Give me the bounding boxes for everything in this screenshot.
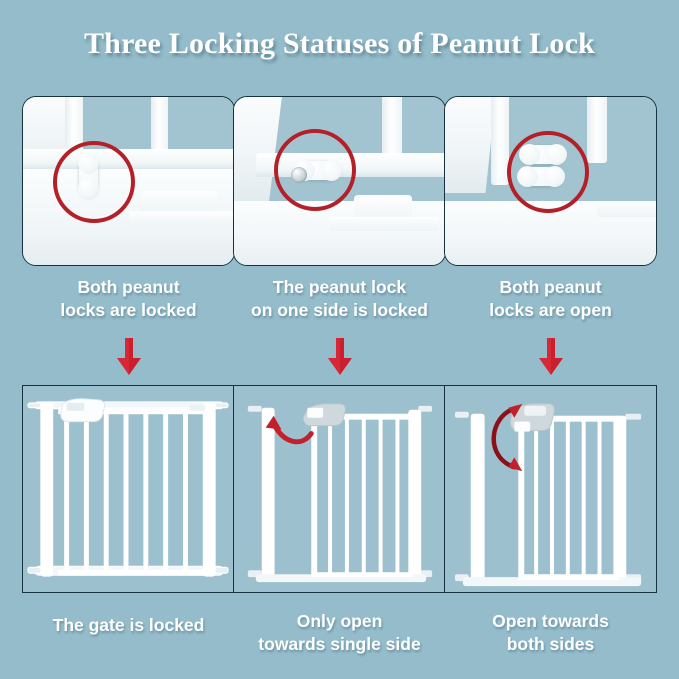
- door-frame-left: [233, 96, 283, 201]
- down-arrow-icon: [538, 338, 564, 376]
- gate-open-single-illustration: [234, 386, 445, 592]
- caption-open-both-sides: Open towards both sides: [444, 610, 657, 656]
- photo-scene: [445, 97, 656, 265]
- caption-line-1: Both peanut: [22, 276, 235, 299]
- caption-line-2: locks are open: [444, 299, 657, 322]
- photo-panel-both-locked: [22, 96, 235, 266]
- caption-line-1: Only open: [233, 610, 446, 633]
- highlight-circle: [274, 129, 356, 211]
- caption-line-1: Both peanut: [444, 276, 657, 299]
- gate-panel-locked: [22, 385, 235, 593]
- caption-line-2: on one side is locked: [233, 299, 446, 322]
- down-arrow-1: [22, 338, 235, 378]
- latch-base: [129, 211, 233, 227]
- caption-line-1: The peanut lock: [233, 276, 446, 299]
- gate-closed-illustration: [23, 386, 234, 592]
- caption-both-locked: Both peanut locks are locked: [22, 276, 235, 322]
- latch-base: [330, 217, 438, 231]
- caption-gate-locked: The gate is locked: [22, 614, 235, 637]
- caption-open-single-side: Only open towards single side: [233, 610, 446, 656]
- door-frame-left: [444, 96, 496, 193]
- caption-line-1: The gate is locked: [22, 614, 235, 637]
- vertical-post-right: [151, 96, 168, 151]
- photo-scene: [23, 97, 234, 265]
- down-arrow-2: [233, 338, 446, 378]
- highlight-circle: [507, 131, 589, 213]
- page-title: Three Locking Statuses of Peanut Lock: [0, 27, 679, 61]
- photo-scene: [234, 97, 445, 265]
- caption-line-1: Open towards: [444, 610, 657, 633]
- highlight-circle: [53, 141, 135, 223]
- photo-panel-one-side-locked: [233, 96, 446, 266]
- infographic-root: Three Locking Statuses of Peanut Lock Bo…: [0, 0, 679, 679]
- gate-open-both-illustration: [445, 386, 656, 592]
- down-arrow-3: [444, 338, 657, 378]
- caption-line-2: towards single side: [233, 633, 446, 656]
- base-slab: [233, 201, 446, 266]
- caption-both-open: Both peanut locks are open: [444, 276, 657, 322]
- vertical-post-right: [587, 96, 607, 163]
- vertical-post-right: [382, 96, 402, 161]
- caption-one-side-locked: The peanut lock on one side is locked: [233, 276, 446, 322]
- latch-bracket: [141, 191, 217, 213]
- down-arrow-icon: [327, 338, 353, 376]
- gate-panel-both-sides: [444, 385, 657, 593]
- gate-panel-single-side: [233, 385, 446, 593]
- down-arrow-icon: [116, 338, 142, 376]
- latch-bracket: [597, 201, 657, 217]
- caption-line-2: locks are locked: [22, 299, 235, 322]
- caption-line-2: both sides: [444, 633, 657, 656]
- photo-panel-both-open: [444, 96, 657, 266]
